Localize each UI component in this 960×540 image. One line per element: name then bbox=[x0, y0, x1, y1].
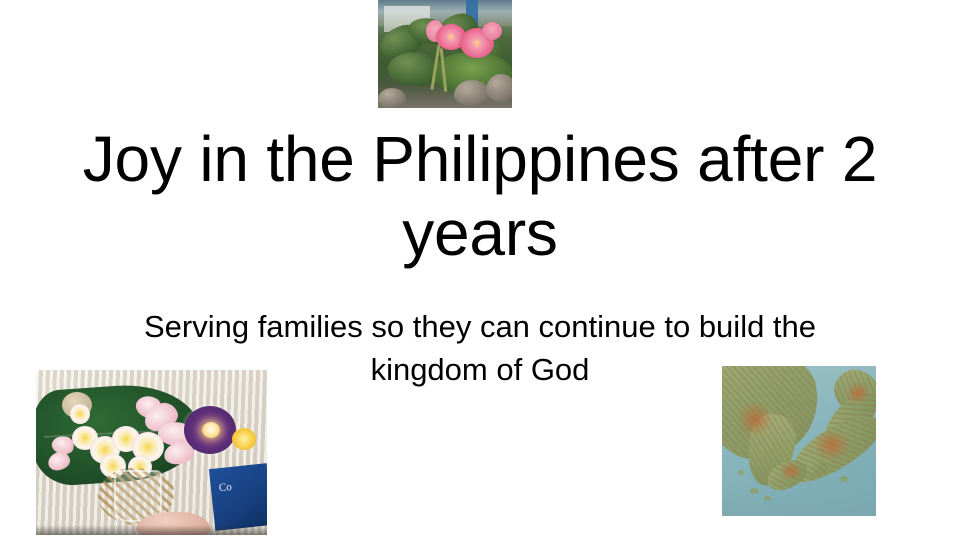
blue-booklet: Co bbox=[209, 463, 267, 531]
garden-stone bbox=[454, 80, 490, 106]
pink-flower bbox=[482, 22, 502, 40]
ocean-gradient bbox=[722, 500, 876, 516]
mountain-relief bbox=[780, 462, 802, 480]
small-island bbox=[840, 476, 848, 482]
small-island bbox=[750, 488, 759, 494]
slide-title: Joy in the Philippines after 2 years bbox=[30, 122, 930, 270]
title-line-1: Joy in the Philippines after 2 bbox=[30, 122, 930, 196]
image-plumeria-offering[interactable]: Co bbox=[36, 370, 267, 535]
floating-candle bbox=[202, 422, 220, 438]
mountain-relief bbox=[738, 402, 772, 436]
image-flowers-garden[interactable] bbox=[378, 0, 512, 108]
small-island bbox=[738, 470, 744, 475]
yellow-flower bbox=[232, 428, 256, 450]
subtitle-line-1: Serving families so they can continue to… bbox=[40, 306, 920, 349]
mountain-relief bbox=[814, 430, 850, 460]
image-japan-map[interactable] bbox=[722, 366, 876, 516]
garden-stone bbox=[486, 74, 512, 102]
garden-stone bbox=[378, 88, 406, 108]
booklet-text: Co bbox=[218, 481, 232, 494]
mountain-relief bbox=[846, 382, 870, 404]
photo-edge-shadow bbox=[36, 525, 267, 535]
plumeria-flower bbox=[70, 404, 90, 424]
title-line-2: years bbox=[30, 196, 930, 270]
slide-canvas: Joy in the Philippines after 2 years Ser… bbox=[0, 0, 960, 540]
